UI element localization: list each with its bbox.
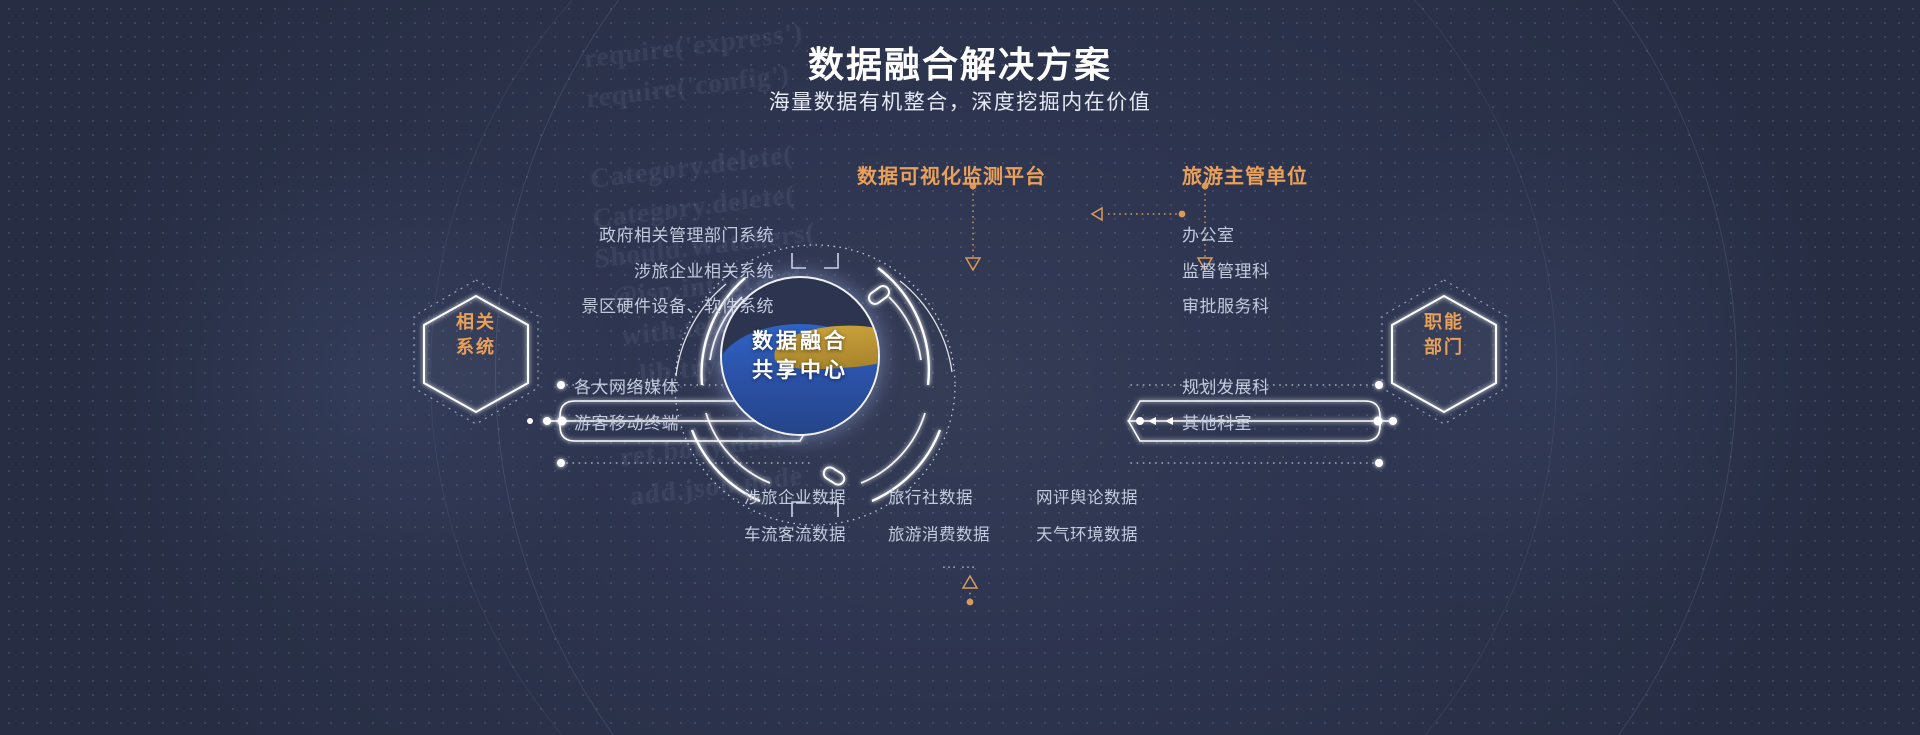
list-item: 车流客流数据 — [744, 524, 888, 546]
heading-tourism-authority[interactable]: 旅游主管单位 — [1182, 160, 1308, 189]
list-item: 规划发展科 — [1182, 370, 1402, 406]
node-related-systems-line1: 相关 — [456, 310, 496, 335]
center-hub-line1: 数据融合 — [752, 327, 848, 356]
list-item: 天气环境数据 — [1036, 524, 1184, 546]
bus-left-node-a — [543, 417, 551, 425]
node-related-systems-label: 相关 系统 — [418, 271, 534, 399]
list-item: 旅游消费数据 — [888, 524, 1036, 546]
callout-bottom-arrow — [963, 576, 977, 588]
diagram-canvas: require('express') require('config') Cat… — [0, 0, 1920, 735]
list-item: 各大网络媒体 — [574, 370, 774, 406]
bus-left-node-c — [557, 381, 565, 389]
bus-left-node-b — [558, 417, 567, 426]
callout-bottom-dot — [967, 599, 974, 606]
heading-visualization-platform[interactable]: 数据可视化监测平台 — [857, 160, 1046, 189]
bus-left-node-e — [527, 418, 533, 424]
list-item: 旅行社数据 — [888, 487, 1036, 509]
node-functional-departments-line1: 职能 — [1424, 310, 1464, 335]
bus-right-node-e — [1136, 417, 1144, 425]
list-item: 网评舆论数据 — [1036, 487, 1184, 509]
callout-top-arrow — [1092, 208, 1102, 220]
list-item: 其他科室 — [1182, 406, 1402, 442]
list-item: 办公室 — [1182, 218, 1402, 254]
list-item: 监督管理科 — [1182, 254, 1402, 290]
bottom-data-sources-grid: 涉旅企业数据 旅行社数据 网评舆论数据 车流客流数据 旅游消费数据 天气环境数据 — [744, 487, 1184, 546]
list-item: 涉旅企业数据 — [744, 487, 888, 509]
left-sources-top-list: 政府相关管理部门系统 涉旅企业相关系统 景区硬件设备、软件系统 — [574, 218, 774, 325]
list-item: 政府相关管理部门系统 — [574, 218, 774, 254]
right-departments-top-list: 办公室 监督管理科 审批服务科 — [1182, 218, 1402, 325]
list-item: 审批服务科 — [1182, 289, 1402, 325]
bottom-ellipsis: …… — [0, 555, 1920, 573]
node-related-systems[interactable]: 相关 系统 — [418, 271, 534, 399]
list-item: 游客移动终端 — [574, 406, 774, 442]
list-item: 涉旅企业相关系统 — [574, 254, 774, 290]
callout-vis-arrow — [966, 258, 980, 270]
left-sources-bottom-list: 各大网络媒体 游客移动终端 — [574, 370, 774, 441]
node-related-systems-line2: 系统 — [456, 335, 496, 360]
bus-left-node-d — [557, 459, 565, 467]
right-departments-bottom-list: 规划发展科 其他科室 — [1182, 370, 1402, 441]
list-item: 景区硬件设备、软件系统 — [574, 289, 774, 325]
node-functional-departments-label: 职能 部门 — [1386, 271, 1502, 399]
callout-top-dot — [1179, 211, 1186, 218]
node-functional-departments[interactable]: 职能 部门 — [1386, 271, 1502, 399]
bus-right-node-d — [1375, 459, 1383, 467]
connector-layer — [0, 0, 1920, 735]
node-functional-departments-line2: 部门 — [1424, 335, 1464, 360]
